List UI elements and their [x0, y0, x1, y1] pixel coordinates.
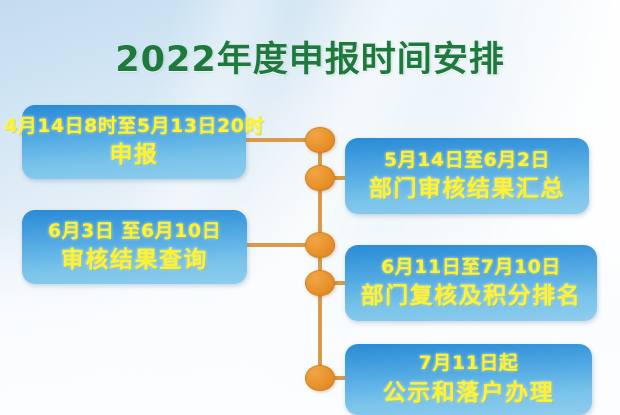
timeline-node-2[interactable] — [305, 165, 335, 191]
stage-review-action: 部门审核结果汇总 — [369, 176, 565, 203]
timeline-node-5[interactable] — [305, 365, 335, 391]
stage-box-query[interactable]: 6月3日 至6月10日 审核结果查询 — [22, 210, 247, 284]
stage-query-period: 6月3日 至6月10日 — [48, 220, 221, 242]
stage-box-recheck[interactable]: 6月11日至7月10日 部门复核及积分排名 — [345, 245, 597, 321]
stage-box-apply[interactable]: 4月14日8时至5月13日20时 申报 — [22, 105, 246, 179]
timeline-node-4[interactable] — [305, 270, 335, 296]
stage-apply-action: 申报 — [110, 142, 159, 169]
timeline-node-1[interactable] — [305, 127, 335, 153]
timeline-infographic: 2022年度申报时间安排 4月14日8时至5月13日20时 申报 5月14日至6… — [0, 0, 620, 415]
stage-publicity-action: 公示和落户办理 — [383, 380, 555, 407]
stage-query-action: 审核结果查询 — [61, 247, 208, 274]
stage-box-publicity[interactable]: 7月11日起 公示和落户办理 — [345, 344, 592, 415]
stage-publicity-period: 7月11日起 — [419, 352, 519, 374]
timeline-node-3[interactable] — [305, 232, 335, 258]
stage-box-review[interactable]: 5月14日至6月2日 部门审核结果汇总 — [345, 138, 589, 214]
stage-recheck-period: 6月11日至7月10日 — [381, 256, 561, 278]
stage-apply-period: 4月14日8时至5月13日20时 — [4, 115, 264, 137]
page-title: 2022年度申报时间安排 — [0, 31, 620, 82]
stage-recheck-action: 部门复核及积分排名 — [361, 283, 582, 310]
stage-review-period: 5月14日至6月2日 — [384, 149, 550, 171]
